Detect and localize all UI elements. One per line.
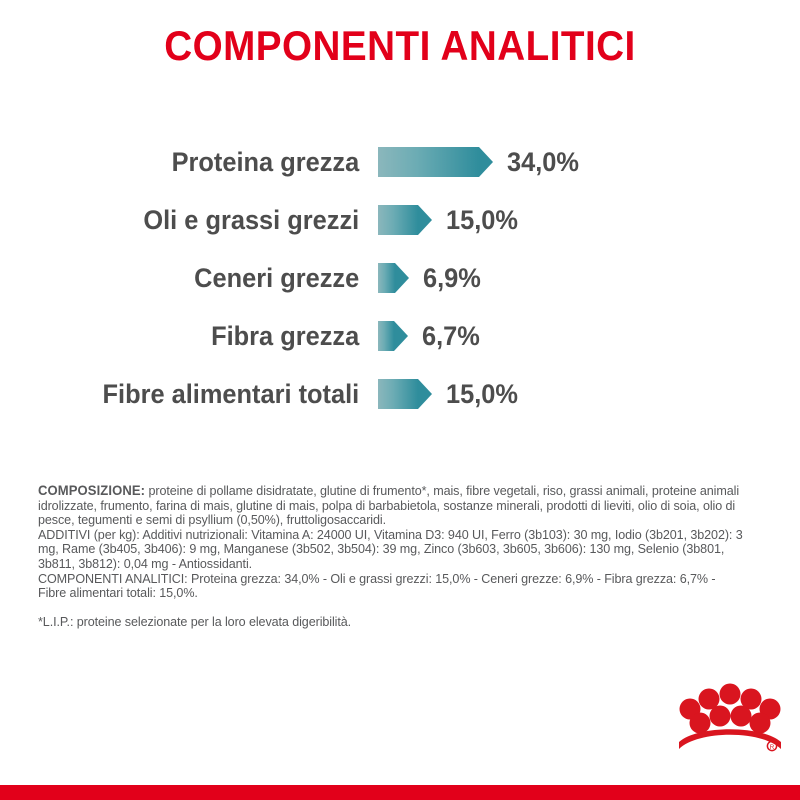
footnote-paragraph: *L.I.P.: proteine selezionate per la lor…	[38, 615, 743, 630]
componenti-analitici-paragraph: COMPONENTI ANALITICI: Proteina grezza: 3…	[38, 572, 743, 601]
chart-row-value: 34,0%	[507, 149, 579, 176]
chart-bar-wrap	[378, 147, 479, 177]
chart-bar	[378, 205, 418, 235]
svg-text:R: R	[770, 744, 775, 751]
crown-dots-icon	[680, 684, 781, 734]
chart-bar	[378, 321, 394, 351]
composizione-paragraph: COMPOSIZIONE: proteine di pollame disidr…	[38, 484, 743, 528]
chart-bar-wrap	[378, 205, 418, 235]
chart-bar	[378, 379, 418, 409]
chart-bar	[378, 263, 395, 293]
composition-text-block: COMPOSIZIONE: proteine di pollame disidr…	[38, 484, 743, 629]
chart-row: Fibre alimentari totali 15,0%	[0, 365, 800, 423]
chart-row-value: 15,0%	[446, 207, 518, 234]
chart-bar-wrap	[378, 321, 394, 351]
chart-row: Oli e grassi grezzi 15,0%	[0, 191, 800, 249]
analytical-constituents-chart: Proteina grezza 34,0% Oli e grassi grezz…	[0, 133, 800, 423]
composizione-label: COMPOSIZIONE:	[38, 483, 145, 498]
additivi-paragraph: ADDITIVI (per kg): Additivi nutrizionali…	[38, 528, 743, 572]
page-title: COMPONENTI ANALITICI	[32, 22, 768, 70]
chart-row: Proteina grezza 34,0%	[0, 133, 800, 191]
royal-canin-crown-logo: R	[676, 682, 784, 756]
chart-row-value: 6,9%	[423, 265, 481, 292]
chart-bar	[378, 147, 479, 177]
chart-row-label: Fibre alimentari totali	[23, 381, 378, 408]
chart-row-label: Ceneri grezze	[23, 265, 378, 292]
chart-row-label: Proteina grezza	[23, 149, 378, 176]
chart-row: Fibra grezza 6,7%	[0, 307, 800, 365]
bottom-accent-bar	[0, 785, 800, 800]
chart-bar-wrap	[378, 379, 418, 409]
chart-row-label: Oli e grassi grezzi	[23, 207, 378, 234]
chart-row: Ceneri grezze 6,9%	[0, 249, 800, 307]
chart-bar-wrap	[378, 263, 395, 293]
chart-row-value: 15,0%	[446, 381, 518, 408]
chart-row-label: Fibra grezza	[23, 323, 378, 350]
chart-row-value: 6,7%	[422, 323, 480, 350]
crown-arc-icon	[679, 729, 781, 749]
registered-trademark-icon: R	[767, 741, 776, 751]
